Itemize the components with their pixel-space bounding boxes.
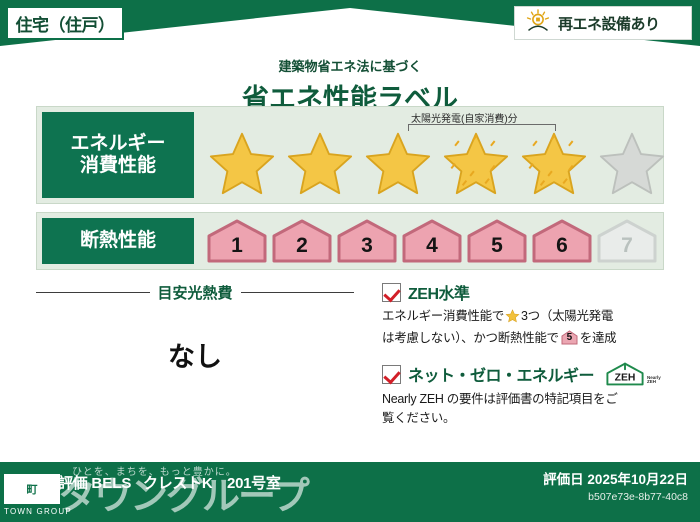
evaluation-date: 評価日 2025年10月22日 [543, 468, 688, 488]
evaluation-id: b507e73e-8b77-40c8 [543, 491, 688, 503]
energy-cost-heading: 目安光熱費 [36, 282, 354, 303]
insulation-level-active: 6 [532, 219, 592, 263]
energy-cost-section: 目安光熱費 なし [36, 282, 354, 374]
zeh-body-part2: は考慮しない）、かつ断熱性能で [382, 331, 559, 345]
net-zero-body-line2: 覧ください。 [382, 411, 455, 425]
insulation-performance-panel: 断熱性能 1234567 [36, 212, 664, 270]
rule-right [241, 292, 355, 293]
building-type-text: 住宅（住戸） [16, 11, 115, 36]
building-type-tag: 住宅（住戸） [6, 6, 124, 40]
energy-performance-panel: エネルギー 消費性能 太陽光発電(自家消費)分 [36, 106, 664, 204]
star-rating-area: 太陽光発電(自家消費)分 [199, 107, 663, 203]
star-filled [361, 130, 435, 196]
solar-note-label: 太陽光発電(自家消費)分 [411, 110, 518, 125]
energy-cost-value: なし [36, 335, 354, 374]
zeh-body-part3: を達成 [580, 331, 617, 345]
insulation-level-text: 1 [231, 234, 243, 263]
zeh-standard-title: ZEH水準 [408, 280, 470, 304]
insulation-level-inactive: 7 [597, 219, 657, 263]
net-zero-title: ネット・ゼロ・エネルギー [408, 362, 594, 386]
svg-text:ZEH: ZEH [615, 372, 636, 383]
zeh-standard-body: エネルギー消費性能で3つ（太陽光発電は考慮しない）、かつ断熱性能で5を達成 [382, 307, 666, 348]
zeh-section: ZEH水準 エネルギー消費性能で3つ（太陽光発電は考慮しない）、かつ断熱性能で5… [382, 280, 666, 441]
rule-left [36, 292, 150, 293]
label-footer: 第三者評価 BELS クレストK 201号室 評価日 2025年10月22日 b… [0, 462, 700, 522]
zeh-body-star-text: 3つ（太陽光発電 [521, 309, 613, 323]
zeh-logo-subtext: Nearly ZEH [647, 376, 661, 387]
star-filled [283, 130, 357, 196]
sun-icon [525, 9, 551, 38]
insulation-level-active: 3 [337, 219, 397, 263]
net-zero-body-line1: Nearly ZEH の要件は評価書の特記項目をご [382, 392, 618, 406]
zeh-body-part1: エネルギー消費性能で [382, 309, 504, 323]
evaluation-date-label: 評価日 [543, 472, 584, 487]
energy-label-line2: 消費性能 [80, 155, 156, 177]
net-zero-energy-item: ネット・ゼロ・エネルギー ZEH Nearly ZEH [382, 361, 666, 428]
renewable-energy-badge: 再エネ設備あり [514, 6, 692, 40]
zeh-standard-checkbox[interactable] [382, 283, 401, 302]
insulation-label-text: 断熱性能 [80, 230, 156, 252]
property-name: クレストK 201号室 [143, 475, 281, 492]
insulation-label-box: 断熱性能 [42, 218, 194, 264]
energy-performance-label-box: エネルギー 消費性能 [42, 112, 194, 198]
insulation-level-text: 6 [556, 234, 568, 263]
insulation-level-text: 7 [621, 234, 633, 263]
net-zero-head: ネット・ゼロ・エネルギー ZEH Nearly ZEH [382, 361, 666, 387]
energy-label-line1: エネルギー [70, 133, 165, 155]
inline-level-badge: 5 [561, 330, 578, 345]
bels-label: BELS [91, 475, 131, 492]
insulation-level-active: 1 [207, 219, 267, 263]
third-party-label: 第三者評価 [14, 475, 88, 492]
inline-star-icon [505, 309, 520, 329]
zeh-logo-sub2: ZEH [647, 379, 656, 384]
insulation-level-text: 2 [296, 234, 308, 263]
energy-cost-heading-text: 目安光熱費 [158, 282, 233, 303]
insulation-level-text: 5 [491, 234, 503, 263]
label-content: 建築物省エネ法に基づく 省エネ性能ラベル エネルギー 消費性能 太陽光発電(自家… [14, 56, 686, 452]
zeh-house-logo: ZEH Nearly ZEH [605, 361, 661, 387]
insulation-level-text: 3 [361, 234, 373, 263]
zeh-standard-item: ZEH水準 エネルギー消費性能で3つ（太陽光発電は考慮しない）、かつ断熱性能で5… [382, 280, 666, 348]
net-zero-checkbox[interactable] [382, 365, 401, 384]
insulation-level-active: 5 [467, 219, 527, 263]
title-subtitle: 建築物省エネ法に基づく [14, 56, 686, 75]
footer-evaluation-info: 評価日 2025年10月22日 b507e73e-8b77-40c8 [543, 468, 688, 503]
star-filled [205, 130, 279, 196]
renewable-badge-label: 再エネ設備あり [558, 13, 660, 34]
inline-level-badge-text: 5 [561, 330, 578, 345]
insulation-level-active: 2 [272, 219, 332, 263]
zeh-standard-head: ZEH水準 [382, 280, 666, 304]
insulation-level-row: 1234567 [199, 219, 663, 263]
star-empty [595, 130, 669, 196]
evaluation-date-value: 2025年10月22日 [587, 472, 688, 487]
insulation-level-active: 4 [402, 219, 462, 263]
net-zero-body: Nearly ZEH の要件は評価書の特記項目をご 覧ください。 [382, 390, 666, 428]
star-row [199, 129, 663, 197]
star-filled [517, 130, 591, 196]
insulation-level-text: 4 [426, 234, 438, 263]
energy-performance-label: 住宅（住戸） 再エネ設備あり 建築物省エネ法に基づく 省エネ性能ラ [0, 0, 700, 522]
star-filled [439, 130, 513, 196]
footer-property-info: 第三者評価 BELS クレストK 201号室 [14, 472, 281, 493]
